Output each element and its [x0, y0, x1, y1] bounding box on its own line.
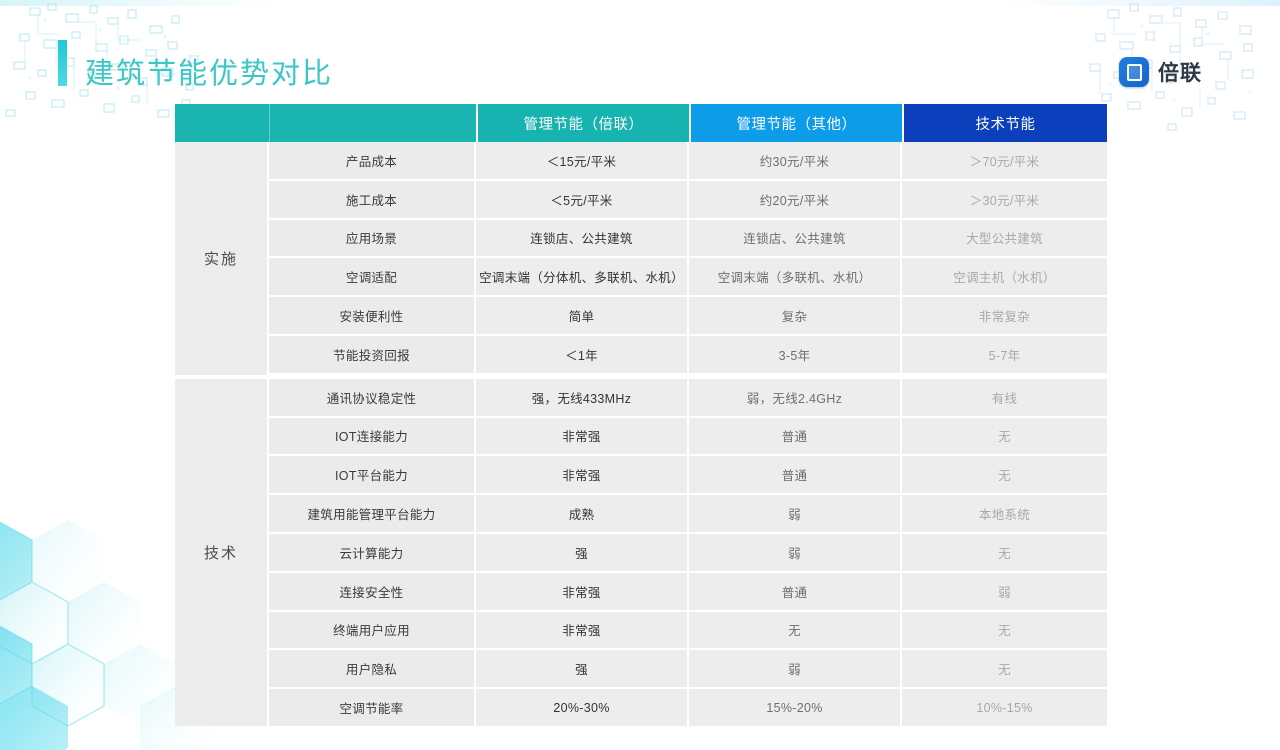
table-row: 安装便利性简单复杂非常复杂	[175, 297, 1107, 336]
row-item-label: 产品成本	[269, 142, 476, 181]
cell-value-beilian: ＜5元/平米	[476, 181, 689, 220]
cell-value-others: 约20元/平米	[689, 181, 902, 220]
cell-value-technical: 无	[902, 456, 1107, 495]
cell-value-technical: 无	[902, 418, 1107, 457]
table-row: 空调节能率20%-30%15%-20%10%-15%	[175, 689, 1107, 726]
table-row: 空调适配空调末端（分体机、多联机、水机）空调末端（多联机、水机）空调主机（水机）	[175, 258, 1107, 297]
cell-value-others: 连锁店、公共建筑	[689, 220, 902, 259]
cell-value-others: 弱，无线2.4GHz	[689, 379, 902, 418]
row-item-label: 连接安全性	[269, 573, 476, 612]
title-accent-bar	[58, 40, 67, 86]
cell-value-beilian: 非常强	[476, 418, 689, 457]
cell-value-beilian: ＜15元/平米	[476, 142, 689, 181]
page-title: 建筑节能优势对比	[85, 50, 333, 92]
cell-value-others: 复杂	[689, 297, 902, 336]
row-group-label: 技术	[175, 379, 269, 726]
row-item-label: 建筑用能管理平台能力	[269, 495, 476, 534]
cell-value-beilian: ＜1年	[476, 336, 689, 375]
header-item-blank	[269, 104, 476, 142]
header-col-beilian: 管理节能（倍联）	[476, 104, 689, 142]
cell-value-beilian: 20%-30%	[476, 689, 689, 726]
row-item-label: IOT平台能力	[269, 456, 476, 495]
cell-value-beilian: 成熟	[476, 495, 689, 534]
cell-value-technical: ＞70元/平米	[902, 142, 1107, 181]
cell-value-technical: 非常复杂	[902, 297, 1107, 336]
table-row: 用户隐私强弱无	[175, 650, 1107, 689]
cell-value-beilian: 简单	[476, 297, 689, 336]
cell-value-technical: 大型公共建筑	[902, 220, 1107, 259]
cell-value-others: 弱	[689, 534, 902, 573]
table-head: 管理节能（倍联） 管理节能（其他） 技术节能	[175, 104, 1107, 142]
table-row: 建筑用能管理平台能力成熟弱本地系统	[175, 495, 1107, 534]
cell-value-technical: 弱	[902, 573, 1107, 612]
cell-value-technical: 无	[902, 612, 1107, 651]
table-row: 节能投资回报＜1年3-5年5-7年	[175, 336, 1107, 375]
table-row: 云计算能力强弱无	[175, 534, 1107, 573]
cell-value-beilian: 连锁店、公共建筑	[476, 220, 689, 259]
table-row: 施工成本＜5元/平米约20元/平米＞30元/平米	[175, 181, 1107, 220]
table-row: 应用场景连锁店、公共建筑连锁店、公共建筑大型公共建筑	[175, 220, 1107, 259]
row-item-label: IOT连接能力	[269, 418, 476, 457]
brand-mark-icon	[1119, 57, 1149, 87]
cell-value-technical: 有线	[902, 379, 1107, 418]
cell-value-technical: 本地系统	[902, 495, 1107, 534]
top-gradient-strip	[0, 0, 1280, 6]
table-row: 终端用户应用非常强无无	[175, 612, 1107, 651]
cell-value-technical: ＞30元/平米	[902, 181, 1107, 220]
row-item-label: 节能投资回报	[269, 336, 476, 375]
table-body: 实施产品成本＜15元/平米约30元/平米＞70元/平米施工成本＜5元/平米约20…	[175, 142, 1107, 726]
row-item-label: 终端用户应用	[269, 612, 476, 651]
row-item-label: 通讯协议稳定性	[269, 379, 476, 418]
table-header-row: 管理节能（倍联） 管理节能（其他） 技术节能	[175, 104, 1107, 142]
cell-value-beilian: 空调末端（分体机、多联机、水机）	[476, 258, 689, 297]
row-item-label: 安装便利性	[269, 297, 476, 336]
cell-value-beilian: 强	[476, 534, 689, 573]
table-row: 连接安全性非常强普通弱	[175, 573, 1107, 612]
cell-value-others: 无	[689, 612, 902, 651]
cell-value-beilian: 强，无线433MHz	[476, 379, 689, 418]
row-item-label: 应用场景	[269, 220, 476, 259]
table-row: IOT连接能力非常强普通无	[175, 418, 1107, 457]
row-item-label: 施工成本	[269, 181, 476, 220]
cell-value-others: 弱	[689, 650, 902, 689]
cell-value-beilian: 非常强	[476, 456, 689, 495]
header-group-blank	[175, 104, 269, 142]
table-row: 实施产品成本＜15元/平米约30元/平米＞70元/平米	[175, 142, 1107, 181]
cell-value-others: 空调末端（多联机、水机）	[689, 258, 902, 297]
cell-value-technical: 空调主机（水机）	[902, 258, 1107, 297]
cell-value-others: 15%-20%	[689, 689, 902, 726]
row-group-label: 实施	[175, 142, 269, 375]
cell-value-others: 普通	[689, 573, 902, 612]
cell-value-others: 约30元/平米	[689, 142, 902, 181]
cell-value-technical: 10%-15%	[902, 689, 1107, 726]
cell-value-technical: 无	[902, 534, 1107, 573]
comparison-table: 管理节能（倍联） 管理节能（其他） 技术节能 实施产品成本＜15元/平米约30元…	[175, 104, 1107, 726]
cell-value-others: 普通	[689, 456, 902, 495]
cell-value-others: 普通	[689, 418, 902, 457]
cell-value-beilian: 非常强	[476, 612, 689, 651]
cell-value-technical: 无	[902, 650, 1107, 689]
brand-name: 倍联	[1158, 57, 1202, 87]
table-row: IOT平台能力非常强普通无	[175, 456, 1107, 495]
cell-value-beilian: 非常强	[476, 573, 689, 612]
row-item-label: 空调适配	[269, 258, 476, 297]
row-item-label: 用户隐私	[269, 650, 476, 689]
cell-value-others: 弱	[689, 495, 902, 534]
header-col-technical: 技术节能	[902, 104, 1107, 142]
cell-value-others: 3-5年	[689, 336, 902, 375]
header-col-others: 管理节能（其他）	[689, 104, 902, 142]
cell-value-technical: 5-7年	[902, 336, 1107, 375]
brand-logo: 倍联	[1119, 57, 1202, 87]
table-row: 技术通讯协议稳定性强，无线433MHz弱，无线2.4GHz有线	[175, 379, 1107, 418]
row-item-label: 云计算能力	[269, 534, 476, 573]
row-item-label: 空调节能率	[269, 689, 476, 726]
cell-value-beilian: 强	[476, 650, 689, 689]
